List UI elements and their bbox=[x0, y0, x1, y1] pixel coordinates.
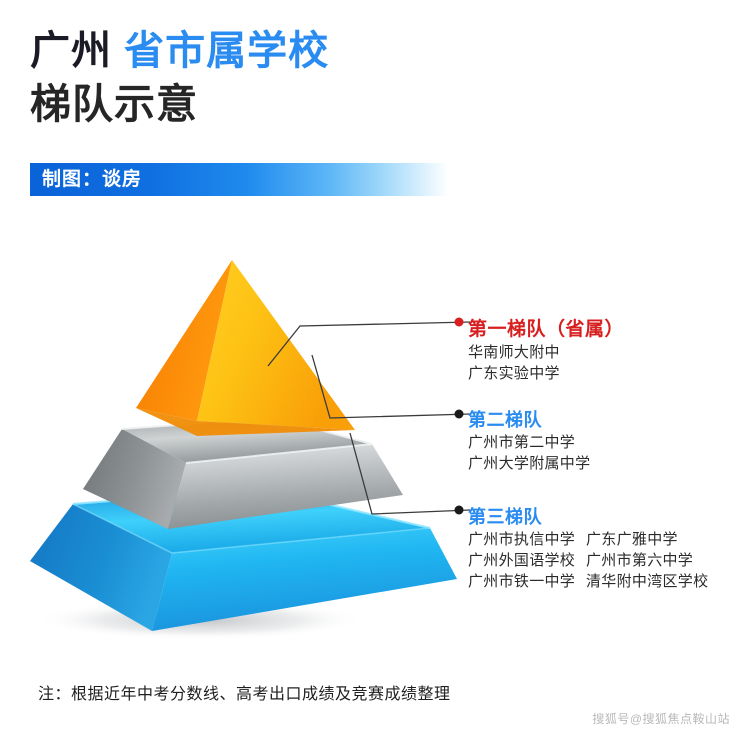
tier-3-school-1a: 广州外国语学校 bbox=[468, 550, 586, 571]
tier-3-label: 第三梯队 bbox=[468, 505, 708, 529]
tier-2-school-1: 广州大学附属中学 bbox=[468, 455, 590, 472]
tier-annotation-2: 第二梯队 广州市第二中学 广州大学附属中学 bbox=[468, 408, 590, 474]
tier-3-school-2a: 广州市铁一中学 bbox=[468, 571, 586, 592]
credit-label: 制图：谈房 bbox=[42, 167, 142, 192]
tier-2-label: 第二梯队 bbox=[468, 408, 590, 432]
tier-3-school-0b: 广东广雅中学 bbox=[586, 529, 678, 550]
pyramid-svg bbox=[0, 248, 500, 648]
tier-1-school-1: 广东实验中学 bbox=[468, 365, 560, 382]
page-title-line-2: 梯队示意 bbox=[30, 80, 198, 128]
tier-3-school-2b: 清华附中湾区学校 bbox=[586, 571, 708, 592]
pyramid-level-1 bbox=[136, 260, 355, 436]
page-title-line-1: 广州 省市属学校 bbox=[30, 28, 329, 74]
title-subject: 省市属学校 bbox=[124, 29, 329, 73]
tier-annotation-1: 第一梯队（省属） 华南师大附中 广东实验中学 bbox=[468, 318, 624, 384]
tier-1-school-0: 华南师大附中 bbox=[468, 344, 560, 361]
credit-bar: 制图：谈房 bbox=[30, 163, 448, 196]
tier-1-school-row: 广东实验中学 bbox=[468, 363, 624, 384]
title-city: 广州 bbox=[30, 29, 112, 73]
tier-3-school-0a: 广州市执信中学 bbox=[468, 529, 586, 550]
header: 广州 省市属学校 梯队示意 制图：谈房 bbox=[0, 0, 740, 215]
tier-2-school-0: 广州市第二中学 bbox=[468, 434, 575, 451]
tier-2-school-row: 广州市第二中学 bbox=[468, 432, 590, 453]
tier-1-label: 第一梯队（省属） bbox=[468, 318, 624, 342]
tier-2-school-row: 广州大学附属中学 bbox=[468, 453, 590, 474]
tier-3-school-row: 广州外国语学校广州市第六中学 bbox=[468, 550, 708, 571]
tier-3-school-row: 广州市铁一中学清华附中湾区学校 bbox=[468, 571, 708, 592]
tier-annotation-3: 第三梯队 广州市执信中学广东广雅中学 广州外国语学校广州市第六中学 广州市铁一中… bbox=[468, 505, 708, 592]
tier-3-school-1b: 广州市第六中学 bbox=[586, 550, 693, 571]
footnote: 注：根据近年中考分数线、高考出口成绩及竞赛成绩整理 bbox=[38, 680, 451, 704]
watermark: 搜狐号@搜狐焦点鞍山站 bbox=[592, 710, 730, 727]
pyramid-graphic bbox=[0, 248, 500, 648]
tier-3-school-row: 广州市执信中学广东广雅中学 bbox=[468, 529, 708, 550]
tier-1-school-row: 华南师大附中 bbox=[468, 342, 624, 363]
infographic-page: 广州 省市属学校 梯队示意 制图：谈房 bbox=[0, 0, 740, 739]
